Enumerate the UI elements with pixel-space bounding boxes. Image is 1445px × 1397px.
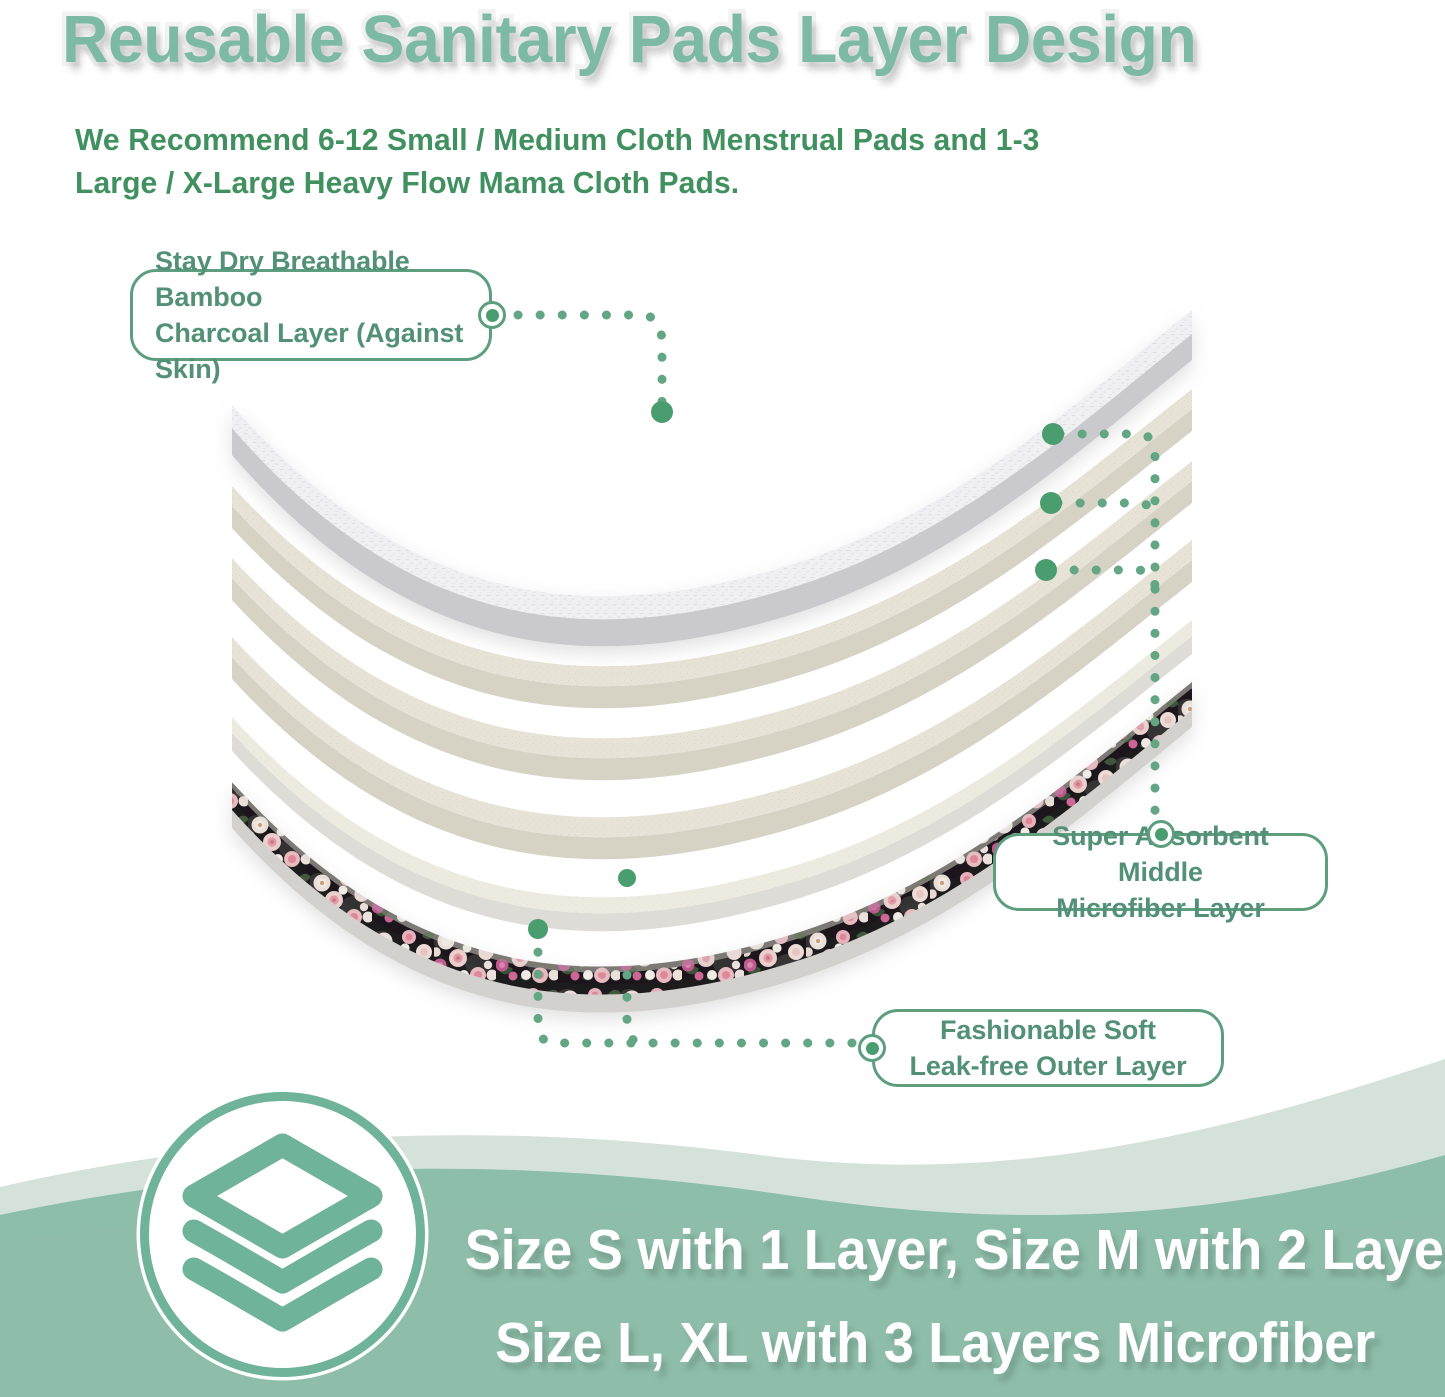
banner-line-2: Size L, XL with 3 Layers Microfiber bbox=[465, 1297, 1406, 1390]
infographic-page: Reusable Sanitary Pads Layer Design We R… bbox=[0, 0, 1445, 1397]
callout-bot-line-2: Leak-free Outer Layer bbox=[909, 1048, 1186, 1084]
connector-outer-right bbox=[627, 975, 645, 1043]
page-title: Reusable Sanitary Pads Layer Design bbox=[62, 4, 1291, 76]
endpoint-top-layer bbox=[651, 401, 673, 423]
connector-lines bbox=[518, 315, 1155, 1043]
banner-size-info: Size S with 1 Layer, Size M with 2 Layer… bbox=[465, 1204, 1406, 1390]
connector-top-layer bbox=[518, 315, 662, 408]
endpoint-outer-right bbox=[618, 869, 636, 887]
banner-line-1: Size S with 1 Layer, Size M with 2 Layer… bbox=[465, 1204, 1406, 1297]
endpoint-microfiber-1 bbox=[1042, 423, 1064, 445]
connector-node-outer-layer bbox=[858, 1034, 886, 1062]
connector-microfiber-3 bbox=[1052, 570, 1155, 588]
callout-mid-line-2: Microfiber Layer bbox=[1012, 890, 1309, 926]
callout-top-line-1: Stay Dry Breathable Bamboo bbox=[155, 243, 473, 315]
subtitle-line-1: We Recommend 6-12 Small / Medium Cloth M… bbox=[75, 122, 925, 157]
endpoint-microfiber-3 bbox=[1035, 559, 1057, 581]
callout-top-layer: Stay Dry Breathable Bamboo Charcoal Laye… bbox=[130, 269, 492, 361]
endpoint-microfiber-2 bbox=[1040, 492, 1062, 514]
connector-outer-left bbox=[538, 930, 862, 1043]
layer-microfiber-1 bbox=[232, 389, 1192, 708]
layers-stack-badge bbox=[131, 1083, 434, 1386]
callout-top-line-2: Charcoal Layer (Against Skin) bbox=[155, 315, 473, 387]
layer-microfiber-2 bbox=[232, 461, 1192, 780]
connector-microfiber-2 bbox=[1058, 503, 1155, 520]
callout-bot-line-1: Fashionable Soft bbox=[909, 1012, 1186, 1048]
connector-microfiber-1 bbox=[1060, 434, 1155, 820]
connector-node-middle-layer bbox=[1147, 820, 1175, 848]
callout-outer-layer: Fashionable Soft Leak-free Outer Layer bbox=[872, 1009, 1224, 1087]
layer-microfiber-3 bbox=[232, 540, 1192, 859]
connector-node-top-layer bbox=[478, 301, 506, 329]
connector-endpoints bbox=[528, 401, 1064, 939]
endpoint-outer-left bbox=[528, 919, 548, 939]
page-subtitle: We Recommend 6-12 Small / Medium Cloth M… bbox=[75, 118, 1045, 204]
